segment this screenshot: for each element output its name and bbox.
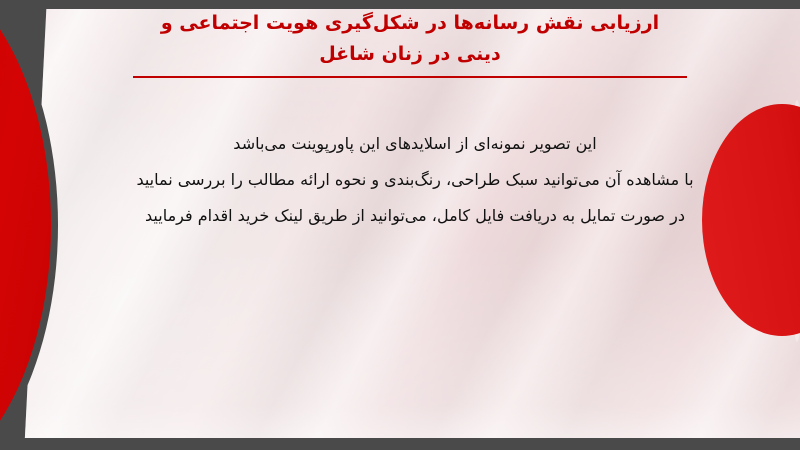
presentation-slide: ارزیابی نقش رسانه‌ها در شکل‌گیری هویت اج… [0, 0, 800, 450]
title-underline [133, 76, 687, 78]
body-line-2: با مشاهده آن می‌توانید سبک طراحی، رنگ‌بن… [70, 162, 760, 198]
slide-body-text: این تصویر نمونه‌ای از اسلایدهای این پاور… [70, 126, 760, 234]
body-line-3: در صورت تمایل به دریافت فایل کامل، می‌تو… [70, 198, 760, 234]
bottom-band [0, 438, 800, 450]
top-band [0, 0, 800, 9]
body-line-1: این تصویر نمونه‌ای از اسلایدهای این پاور… [70, 126, 760, 162]
slide-title-line-2: دینی در زنان شاغل [120, 39, 700, 70]
slide-title-line-1: ارزیابی نقش رسانه‌ها در شکل‌گیری هویت اج… [120, 8, 700, 39]
slide-title: ارزیابی نقش رسانه‌ها در شکل‌گیری هویت اج… [120, 8, 700, 70]
